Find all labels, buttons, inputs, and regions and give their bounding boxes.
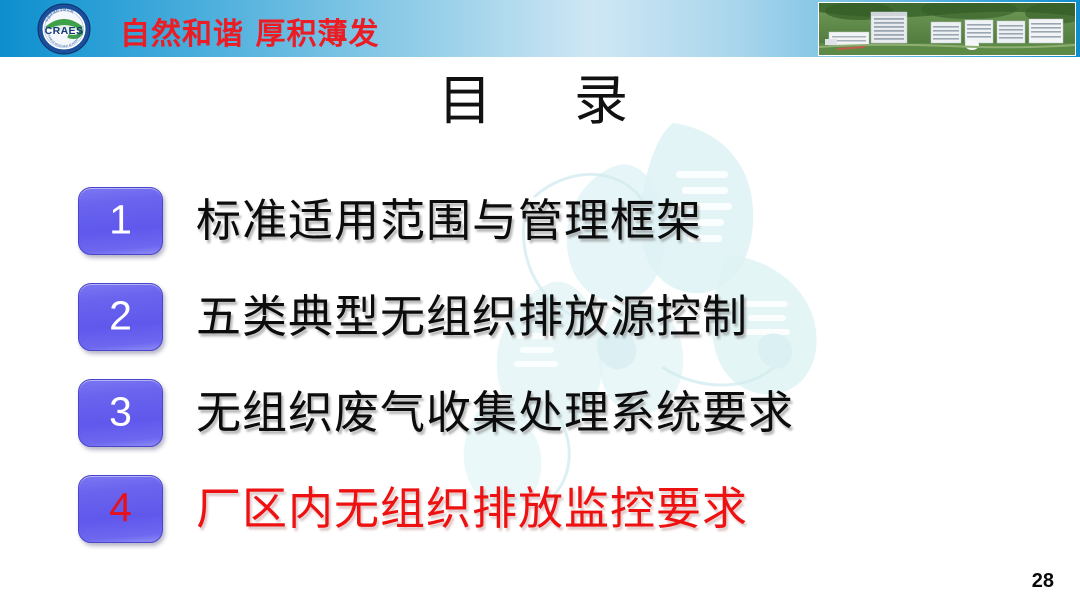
toc-number-box-1[interactable]: 1 — [78, 187, 163, 255]
toc-number-3: 3 — [79, 392, 162, 433]
toc-label-4[interactable]: 厂区内无组织排放监控要求 — [196, 477, 748, 541]
toc-item-3[interactable]: 3 无组织废气收集处理系统要求 — [0, 377, 1080, 473]
header-bar: CRAES 中国环境科学研究院 CHINESE RESEARCH ACADEMY… — [0, 0, 1080, 58]
page-title: 目 录 — [0, 74, 1080, 128]
toc-label-2[interactable]: 五类典型无组织排放源控制 — [196, 285, 748, 349]
toc-item-1[interactable]: 1 标准适用范围与管理框架 — [0, 185, 1080, 281]
toc-number-box-3[interactable]: 3 — [78, 379, 163, 447]
toc-label-1[interactable]: 标准适用范围与管理框架 — [196, 189, 702, 253]
toc-number-1: 1 — [79, 200, 162, 241]
page-number: 28 — [1032, 570, 1054, 593]
toc-item-4[interactable]: 4 厂区内无组织排放监控要求 — [0, 473, 1080, 569]
slide-root: CRAES 中国环境科学研究院 CHINESE RESEARCH ACADEMY… — [0, 0, 1080, 607]
toc-number-box-4[interactable]: 4 — [78, 475, 163, 543]
toc-number-2: 2 — [79, 296, 162, 337]
header-slogan: 自然和谐 厚积薄发 — [120, 9, 379, 53]
header-underline — [0, 57, 1080, 59]
toc-list: 1 标准适用范围与管理框架 2 五类典型无组织排放源控制 3 无组织废气收集处理… — [0, 185, 1080, 569]
svg-text:CRAES: CRAES — [45, 25, 84, 37]
campus-aerial-photo — [818, 2, 1076, 56]
craes-logo-icon: CRAES 中国环境科学研究院 CHINESE RESEARCH ACADEMY… — [37, 3, 91, 55]
toc-item-2[interactable]: 2 五类典型无组织排放源控制 — [0, 281, 1080, 377]
toc-number-4: 4 — [79, 488, 162, 529]
toc-number-box-2[interactable]: 2 — [78, 283, 163, 351]
toc-label-3[interactable]: 无组织废气收集处理系统要求 — [196, 381, 794, 445]
